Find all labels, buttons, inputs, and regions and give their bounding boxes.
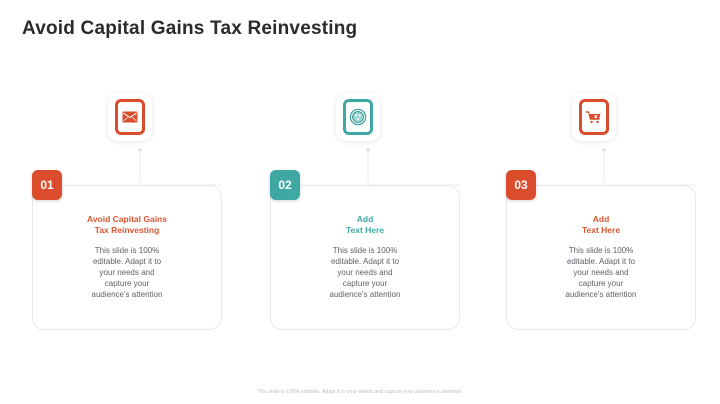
step-badge-3: 03 [506,170,536,200]
card-3-content: Add Text Here This slide is 100% editabl… [507,186,695,300]
column-1: 01 Avoid Capital Gains Tax Reinvesting T… [10,0,250,404]
icon-tile-2[interactable] [336,93,380,141]
card-2[interactable]: Add Text Here This slide is 100% editabl… [270,185,460,330]
icon-frame-3 [579,99,609,135]
card-3[interactable]: Add Text Here This slide is 100% editabl… [506,185,696,330]
cart-remove-icon [585,110,603,125]
icon-tile-3[interactable] [572,93,616,141]
card-3-heading: Add Text Here [529,214,673,236]
card-2-heading: Add Text Here [293,214,437,236]
step-badge-1: 01 [32,170,62,200]
icon-tile-1[interactable] [108,93,152,141]
slide-canvas: Avoid Capital Gains Tax Reinvesting 01 [0,0,720,404]
card-2-body: This slide is 100% editable. Adapt it to… [293,245,437,300]
envelope-icon [122,111,138,123]
card-2-content: Add Text Here This slide is 100% editabl… [271,186,459,300]
step-badge-2: 02 [270,170,300,200]
icon-frame-2 [343,99,373,135]
footer-note: This slide is 100% editable. Adapt it to… [0,389,720,395]
card-1-heading: Avoid Capital Gains Tax Reinvesting [55,214,199,236]
icon-frame-1 [115,99,145,135]
card-3-body: This slide is 100% editable. Adapt it to… [529,245,673,300]
column-2: 02 Add Text Here This slide is 100% edit… [248,0,488,404]
card-1-content: Avoid Capital Gains Tax Reinvesting This… [33,186,221,300]
card-1-body: This slide is 100% editable. Adapt it to… [55,245,199,300]
seal-badge-icon [349,108,367,126]
column-3: 03 Add Text Here This slide is 100% edit… [484,0,720,404]
card-1[interactable]: Avoid Capital Gains Tax Reinvesting This… [32,185,222,330]
